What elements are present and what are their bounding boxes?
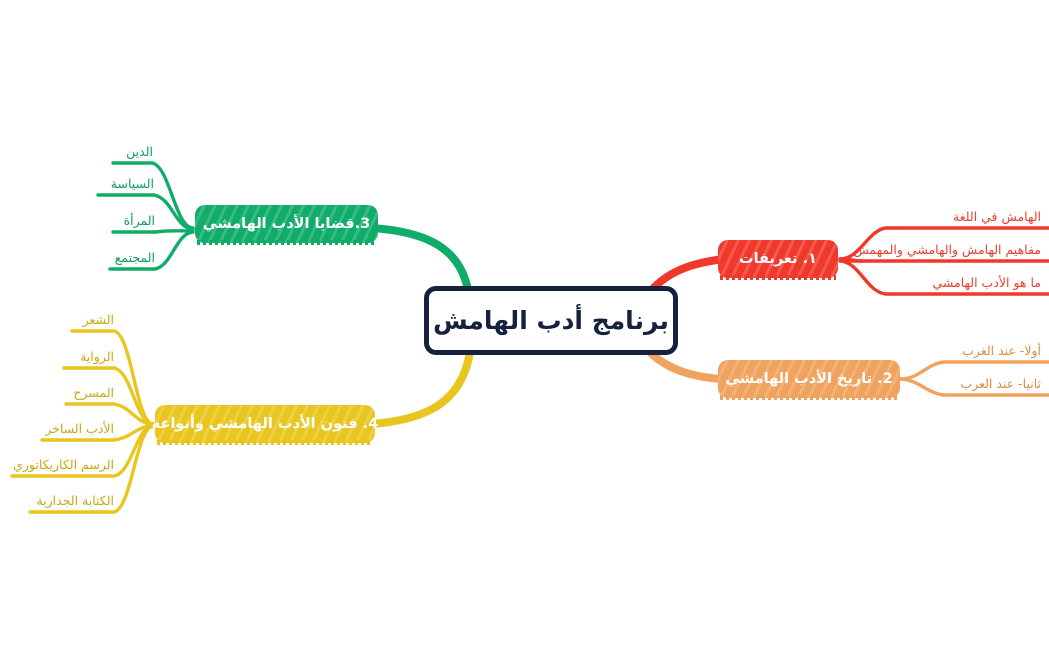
- connector-red-leaf-3: [840, 261, 886, 294]
- branch-node-arts-and-types-label: 4. فنون الأدب الهامشي وأنواعه: [152, 416, 378, 432]
- leaf-issues-1[interactable]: الدين: [113, 145, 153, 159]
- branch-node-issues-label: 3.قضايا الأدب الهامشي: [203, 216, 370, 232]
- mindmap-canvas: برنامج أدب الهامش ١. تعريفات 2. تاريخ ال…: [0, 0, 1049, 650]
- connector-yellow-leaf-2: [114, 368, 153, 424]
- branch-node-arts-and-types[interactable]: 4. فنون الأدب الهامشي وأنواعه: [155, 405, 375, 443]
- leaf-issues-3[interactable]: المرأة: [110, 214, 155, 228]
- connector-green-main: [372, 228, 468, 290]
- connector-yellow-main: [370, 352, 470, 424]
- connector-green-leaf-3: [155, 231, 193, 232]
- leaf-issues-2[interactable]: السياسة: [98, 177, 154, 191]
- connector-green-leaf-1: [152, 163, 193, 228]
- connector-green-leaf-2: [154, 195, 193, 229]
- leaf-history-1[interactable]: أولا- عند الغرب: [962, 344, 1041, 358]
- connector-orange-leaf-1: [900, 362, 944, 379]
- leaf-arts-2[interactable]: الرواية: [64, 350, 114, 364]
- branch-node-definitions[interactable]: ١. تعريفات: [718, 240, 838, 278]
- connector-yellow-leaf-5: [114, 426, 153, 476]
- branch-node-history[interactable]: 2. تاريخ الأدب الهامشي: [718, 360, 900, 398]
- leaf-issues-4[interactable]: المجتمع: [107, 251, 155, 265]
- leaf-arts-1[interactable]: الشعر: [72, 313, 114, 327]
- connector-yellow-leaf-4: [114, 426, 153, 440]
- leaf-arts-4[interactable]: الأدب الساخر: [42, 422, 114, 436]
- leaf-arts-6[interactable]: الكتابة الجدارية: [30, 494, 114, 508]
- leaf-history-2[interactable]: ثانيا- عند العرب: [960, 377, 1041, 391]
- leaf-definitions-3[interactable]: ما هو الأدب الهامشي: [932, 276, 1041, 290]
- branch-node-history-label: 2. تاريخ الأدب الهامشي: [725, 371, 893, 387]
- leaf-arts-5[interactable]: الرسم الكاريكاتوري: [12, 458, 114, 472]
- root-node[interactable]: برنامج أدب الهامش: [424, 286, 678, 355]
- root-node-label: برنامج أدب الهامش: [433, 306, 669, 335]
- leaf-definitions-1[interactable]: الهامش في اللغة: [953, 210, 1041, 224]
- connector-green-leaf-4: [155, 232, 193, 269]
- branch-node-issues[interactable]: 3.قضايا الأدب الهامشي: [195, 205, 378, 243]
- connector-orange-leaf-2: [900, 379, 944, 395]
- connector-yellow-leaf-6: [114, 426, 153, 512]
- connector-yellow-leaf-1: [114, 331, 153, 424]
- leaf-arts-3[interactable]: المسرح: [66, 386, 114, 400]
- leaf-definitions-2[interactable]: مفاهيم الهامش والهامشي والمهمش: [853, 243, 1041, 257]
- branch-node-definitions-label: ١. تعريفات: [739, 251, 817, 267]
- connector-red-leaf-2: [840, 259, 862, 261]
- connector-yellow-leaf-3: [114, 404, 153, 424]
